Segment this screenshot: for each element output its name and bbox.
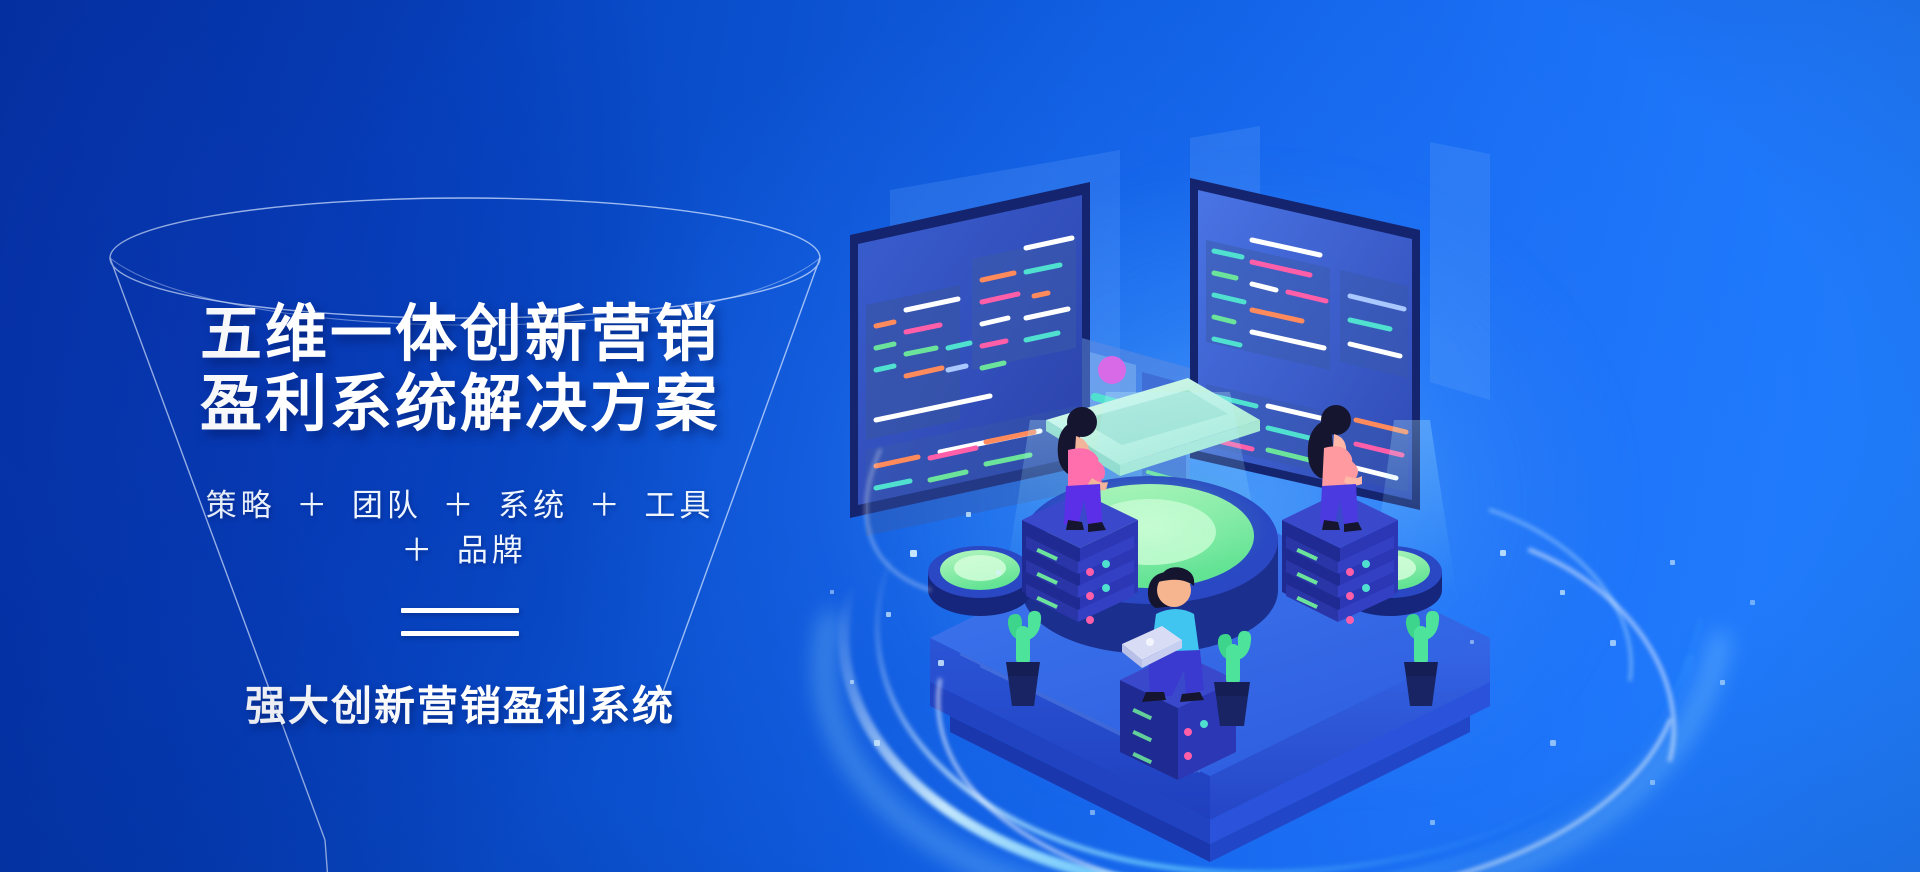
tagline-separator-0: ＋ (296, 488, 331, 523)
tagline-item-3: 工具 (644, 488, 714, 523)
subline: 强大创新营销盈利系统 (200, 672, 720, 732)
tagline-item-0: 策略 (206, 488, 276, 523)
tagline-item-2: 系统 (498, 488, 568, 523)
tagline-item-4: 品牌 (457, 533, 527, 568)
divider-bar-top (401, 608, 519, 613)
glow-pad-left (928, 546, 1032, 616)
tagline-separator-1: ＋ (443, 488, 478, 523)
isometric-tech-platform (790, 120, 1920, 872)
marketing-banner: 五维一体创新营销 盈利系统解决方案 策略 ＋ 团队 ＋ 系统 ＋ 工具 ＋ 品牌… (0, 0, 1920, 872)
tagline-separator-3: ＋ (401, 533, 436, 568)
tagline-separator-2: ＋ (589, 488, 624, 523)
tagline-item-1: 团队 (352, 488, 422, 523)
double-rule-divider (200, 608, 720, 636)
divider-bar-bottom (401, 631, 519, 636)
tagline: 策略 ＋ 团队 ＋ 系统 ＋ 工具 ＋ 品牌 (200, 480, 720, 570)
